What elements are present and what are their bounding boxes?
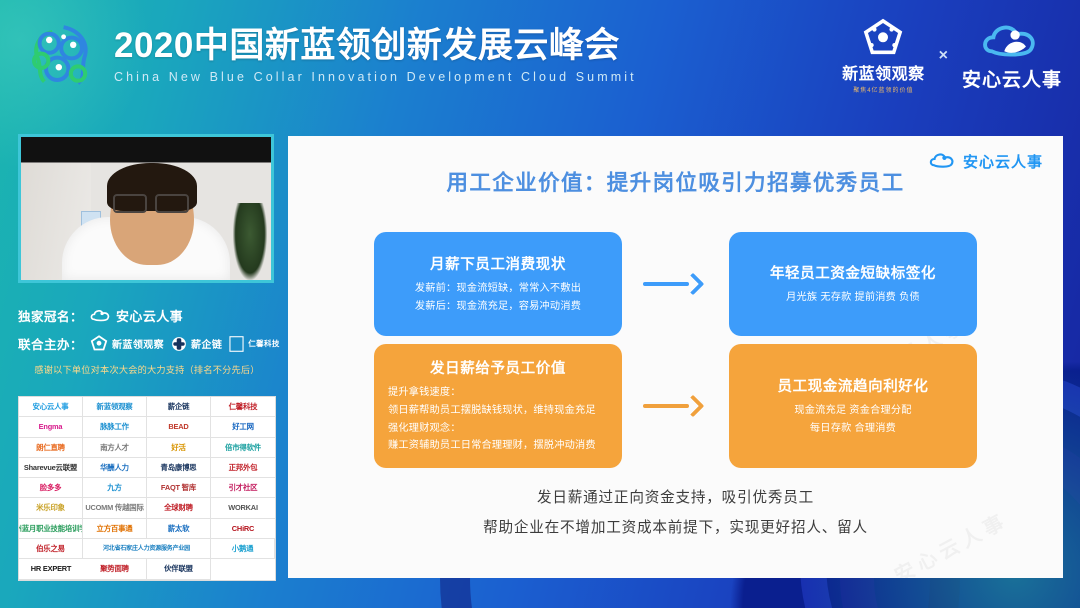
sponsor-logo-cell: 仁馨科技 (211, 397, 275, 417)
partner-name-anxinyun: 安心云人事 (962, 65, 1062, 92)
card-heading: 年轻员工资金短缺标签化 (739, 262, 967, 283)
cloud-person-icon (90, 307, 112, 325)
card-line: 提升拿钱速度： (384, 384, 612, 402)
co-host-name-1: 新蓝领观察 (112, 336, 164, 351)
co-host-name-3: 仁馨科技 (248, 340, 280, 348)
card-line: 领日薪帮助员工摆脱缺钱现状，维持现金充足 (384, 402, 612, 420)
sponsor-logo-cell: 郑州蓝月职业技能培训学校 (19, 519, 83, 539)
presentation-screen: 2020中国新蓝领创新发展云峰会 China New Blue Collar I… (0, 0, 1080, 608)
thanks-note: 感谢以下单位对本次大会的大力支持（排名不分先后） (18, 362, 276, 376)
sponsor-logo-cell: 九方 (83, 478, 147, 498)
co-host-name-2: 薪企链 (191, 336, 222, 351)
sponsor-logo-cell: 好活 (147, 438, 211, 458)
page-subtitle: China New Blue Collar Innovation Develop… (114, 70, 637, 84)
chain-link-icon (171, 336, 187, 352)
sponsor-logo-cell: 薪企链 (147, 397, 211, 417)
arrow-head (682, 273, 705, 296)
co-host-logo-2: 薪企链 (171, 336, 222, 352)
sponsor-logo-grid: 安心云人事新蓝领观察薪企链仁馨科技Engma脉脉工作BEAD好工网朗仁直聘南方人… (18, 396, 276, 581)
card-orange-left: 发日薪给予员工价值 提升拿钱速度： 领日薪帮助员工摆脱缺钱现状，维持现金充足 强… (374, 344, 622, 468)
sponsor-logo-cell: BEAD (147, 417, 211, 437)
sponsor-logo-cell: CHiRC (211, 519, 275, 539)
card-line: 每日存款 合理消费 (739, 420, 967, 438)
sponsor-logo-cell: 华酬人力 (83, 458, 147, 478)
card-heading: 月薪下员工消费现状 (384, 253, 612, 274)
sponsor-logo-cell: WORKAI (211, 498, 275, 518)
sponsor-logo-cell: 安心云人事 (19, 397, 83, 417)
conclusion-line: 帮助企业在不增加工资成本前提下，实现更好招人、留人 (288, 514, 1063, 544)
partner-sub-xinlanling: 聚焦4亿蓝领的价值 (853, 85, 913, 94)
sponsor-logo-cell: UCOMM 传越国际 (83, 498, 147, 518)
card-heading: 发日薪给予员工价值 (384, 357, 612, 378)
partner-name-xinlanling: 新蓝领观察 (842, 60, 925, 84)
sponsor-logo-cell: 薪太软 (147, 519, 211, 539)
sponsor-logo-cell: 伙伴联盟 (147, 559, 211, 579)
slide-title: 用工企业价值：提升岗位吸引力招募优秀员工 (288, 166, 1063, 197)
title-sponsor-label: 独家冠名： (18, 306, 83, 325)
sponsor-logo-cell: Engma (19, 417, 83, 437)
sponsor-logo-cell: 倍市得软件 (211, 438, 275, 458)
card-orange-right: 员工现金流趋向利好化 现金流充足 资金合理分配 每日存款 合理消费 (729, 344, 977, 468)
sponsor-credits: 独家冠名： 安心云人事 联合主办： 新蓝领观察 (18, 306, 276, 376)
conclusion-line: 发日薪通过正向资金支持，吸引优秀员工 (288, 484, 1063, 514)
card-line: 强化理财观念： (384, 420, 612, 438)
partner-logo-xinlanling: 新蓝领观察 聚焦4亿蓝领的价值 (842, 18, 925, 94)
sponsor-logo-cell: 引才社区 (211, 478, 275, 498)
slide-content: 安心云人事 安心云人事 安心云人事 安心云人事 用工企业价值：提升岗位吸引力招募… (288, 136, 1063, 578)
card-line: 发薪前：现金流短缺，常常入不敷出 (384, 280, 612, 298)
sponsor-logo-cell: 全球财聘 (147, 498, 211, 518)
header-titles: 2020中国新蓝领创新发展云峰会 China New Blue Collar I… (114, 28, 637, 84)
arrow-head (682, 395, 705, 418)
sponsor-logo-cell: 聚势面聘 (83, 559, 147, 579)
sponsor-logo-cell: 脉脉工作 (83, 417, 147, 437)
co-host-row: 联合主办： 新蓝领观察 薪企链 仁馨科技 (18, 334, 276, 353)
header-partner-logos: 新蓝领观察 聚焦4亿蓝领的价值 × 安心云人事 (842, 18, 1062, 94)
co-host-label: 联合主办： (18, 334, 83, 353)
speaker-video-feed[interactable] (21, 137, 271, 280)
sponsor-logo-cell: 青岛康博思 (147, 458, 211, 478)
pentagon-network-icon (861, 18, 905, 58)
sponsor-logo-cell: 小鹅通 (211, 539, 275, 559)
sponsor-logo-cell: 新蓝领观察 (83, 397, 147, 417)
arrow-right-icon (643, 272, 703, 296)
sponsor-logo-cell: 立方百事通 (83, 519, 147, 539)
card-blue-left: 月薪下员工消费现状 发薪前：现金流短缺，常常入不敷出 发薪后：现金流充足，容易冲… (374, 232, 622, 336)
pentagon-network-icon (90, 335, 108, 352)
card-heading: 员工现金流趋向利好化 (739, 375, 967, 396)
title-sponsor-row: 独家冠名： 安心云人事 (18, 306, 276, 325)
sponsor-logo-cell: 南方人才 (83, 438, 147, 458)
partner-logo-anxinyun: 安心云人事 (962, 20, 1062, 92)
sponsor-logo-cell: 伯乐之易 (19, 539, 83, 559)
title-sponsor-logo: 安心云人事 (90, 306, 183, 325)
sponsor-logo-cell: FAQT 智库 (147, 478, 211, 498)
video-plant (233, 203, 267, 280)
sponsor-logo-cell: Sharevue云联盟 (19, 458, 83, 478)
sponsor-logo-cell: 米乐印象 (19, 498, 83, 518)
arrow-right-icon (643, 394, 703, 418)
sponsor-logo-cell: 正邦外包 (211, 458, 275, 478)
title-sponsor-name: 安心云人事 (116, 306, 183, 325)
molecule-network-logo-icon (22, 16, 102, 96)
sponsor-logo-cell: 脸多多 (19, 478, 83, 498)
speaker-video-panel[interactable] (18, 134, 274, 283)
speaker-glasses (113, 194, 189, 209)
co-host-logo-3: 仁馨科技 (229, 336, 280, 352)
card-line: 月光族 无存款 提前消费 负债 (739, 289, 967, 307)
sponsor-logo-cell: 河北省石家庄人力资源服务产业园 (83, 539, 211, 559)
sponsor-logo-cell: HR EXPERT (19, 559, 83, 579)
card-line: 现金流充足 资金合理分配 (739, 402, 967, 420)
page-title: 2020中国新蓝领创新发展云峰会 (114, 28, 637, 65)
box-frame-icon (229, 336, 244, 352)
card-line: 发薪后：现金流充足，容易冲动消费 (384, 298, 612, 316)
co-host-logo-1: 新蓝领观察 (90, 335, 164, 352)
sponsor-logo-cell: 好工网 (211, 417, 275, 437)
summit-header: 2020中国新蓝领创新发展云峰会 China New Blue Collar I… (0, 0, 1080, 112)
sponsor-logo-cell: 朗仁直聘 (19, 438, 83, 458)
slide-conclusion: 发日薪通过正向资金支持，吸引优秀员工 帮助企业在不增加工资成本前提下，实现更好招… (288, 484, 1063, 544)
card-line: 赚工资辅助员工日常合理理财，摆脱冲动消费 (384, 437, 612, 455)
cloud-person-icon (981, 20, 1043, 64)
card-blue-right: 年轻员工资金短缺标签化 月光族 无存款 提前消费 负债 (729, 232, 977, 336)
logo-separator: × (939, 47, 948, 65)
